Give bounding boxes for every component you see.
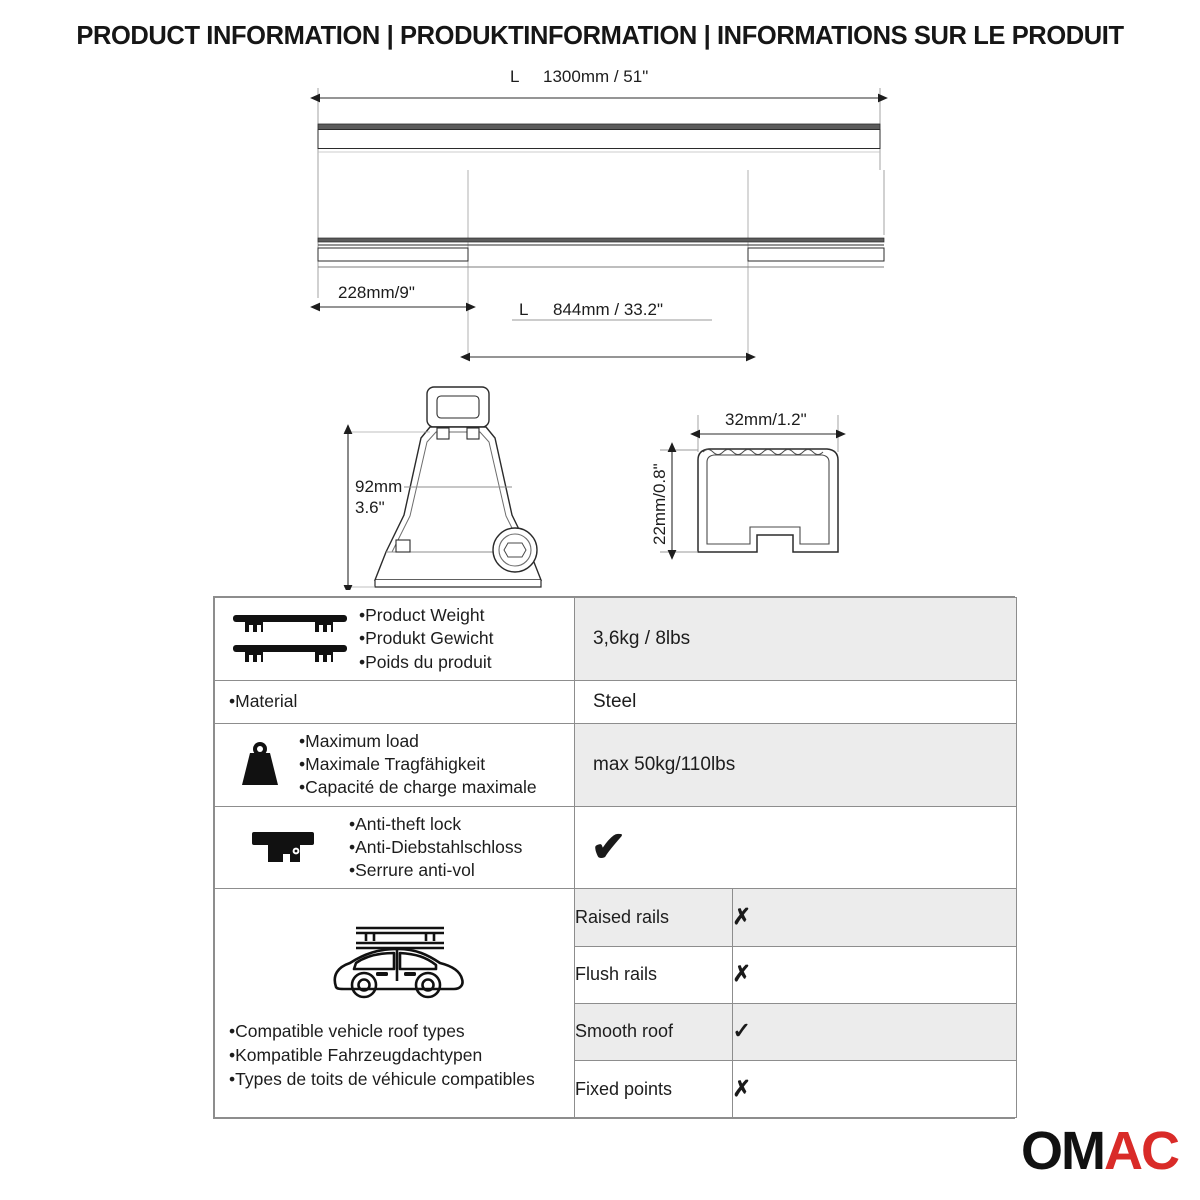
table-row: •Product Weight •Produkt Gewicht •Poids … xyxy=(215,598,1017,681)
spec-label-text: •Product Weight •Produkt Gewicht •Poids … xyxy=(359,604,494,674)
roof-type-row: Raised rails ✗ xyxy=(575,889,1016,946)
roof-type-mark: ✗ xyxy=(732,1060,1016,1117)
spec-value-cell: Steel xyxy=(575,680,1017,723)
spec-value-cell: max 50kg/110lbs xyxy=(575,723,1017,806)
label-line: •Maximale Tragfähigkeit xyxy=(299,753,537,776)
label-line: •Anti-Diebstahlschloss xyxy=(349,836,522,859)
compat-label-cell: •Compatible vehicle roof types •Kompatib… xyxy=(215,889,575,1118)
material-value: Steel xyxy=(575,681,1016,723)
logo-text-om: OM xyxy=(1021,1121,1104,1181)
spec-label-cell: •Material xyxy=(215,680,575,723)
cross-icon: ✗ xyxy=(733,1076,751,1101)
table-row: •Maximum load •Maximale Tragfähigkeit •C… xyxy=(215,723,1017,806)
crossbars-icon xyxy=(225,609,355,669)
spec-label-text: •Maximum load •Maximale Tragfähigkeit •C… xyxy=(299,730,537,800)
roof-type-name: Flush rails xyxy=(575,946,732,1003)
label-line: •Kompatible Fahrzeugdachtypen xyxy=(229,1044,535,1068)
spec-value-cell: ✔ xyxy=(575,806,1017,889)
label-line: •Types de toits de véhicule compatibles xyxy=(229,1068,535,1092)
label-line: •Produkt Gewicht xyxy=(359,627,494,650)
dim-end-offset: 228mm/9" xyxy=(338,283,415,302)
roof-type-row: Fixed points ✗ xyxy=(575,1060,1016,1117)
spec-label-cell: •Product Weight •Produkt Gewicht •Poids … xyxy=(215,598,575,681)
roof-type-mark: ✓ xyxy=(732,1003,1016,1060)
max-load-value: max 50kg/110lbs xyxy=(575,744,1016,786)
dim-span-prefix: L xyxy=(519,300,528,319)
label-line: •Compatible vehicle roof types xyxy=(229,1020,535,1044)
dim-profile-height: 22mm/0.8" xyxy=(650,463,669,545)
logo-text-ac: AC xyxy=(1104,1121,1178,1181)
page-title: PRODUCT INFORMATION | PRODUKTINFORMATION… xyxy=(0,22,1200,51)
dim-length-prefix: L xyxy=(510,67,519,86)
dim-span: 844mm / 33.2" xyxy=(553,300,663,319)
technical-drawing: L 1300mm / 51" 228mm/9" L 844mm / 33.2" xyxy=(0,60,1200,590)
table-row: •Anti-theft lock •Anti-Diebstahlschloss … xyxy=(215,806,1017,889)
label-line: •Poids du produit xyxy=(359,651,494,674)
product-weight-value: 3,6kg / 8lbs xyxy=(575,618,1016,660)
spec-value-cell: 3,6kg / 8lbs xyxy=(575,598,1017,681)
label-line: •Product Weight xyxy=(359,604,494,627)
car-with-rack-icon xyxy=(324,919,474,1010)
roof-type-mark: ✗ xyxy=(732,946,1016,1003)
table-row-compatibility: •Compatible vehicle roof types •Kompatib… xyxy=(215,889,1017,1118)
cross-icon: ✗ xyxy=(733,961,751,986)
roof-type-name: Fixed points xyxy=(575,1060,732,1117)
label-line: •Serrure anti-vol xyxy=(349,859,522,882)
roof-type-row: Flush rails ✗ xyxy=(575,946,1016,1003)
compat-matrix-cell: Raised rails ✗ Flush rails ✗ Smooth roof… xyxy=(575,889,1017,1118)
roof-type-table: Raised rails ✗ Flush rails ✗ Smooth roof… xyxy=(575,889,1016,1117)
page-header: PRODUCT INFORMATION | PRODUKTINFORMATION… xyxy=(0,22,1200,51)
dim-foot-height-in: 3.6" xyxy=(355,498,385,517)
label-line: •Anti-theft lock xyxy=(349,813,522,836)
dim-overall-length: 1300mm / 51" xyxy=(543,67,648,86)
spec-label-cell: •Maximum load •Maximale Tragfähigkeit •C… xyxy=(215,723,575,806)
lock-icon xyxy=(225,826,345,868)
table-row: •Material Steel xyxy=(215,680,1017,723)
roof-type-row: Smooth roof ✓ xyxy=(575,1003,1016,1060)
dim-profile-width: 32mm/1.2" xyxy=(725,410,807,429)
check-icon: ✓ xyxy=(733,1018,751,1043)
label-line: •Maximum load xyxy=(299,730,537,753)
roof-type-mark: ✗ xyxy=(732,889,1016,946)
product-information-page: PRODUCT INFORMATION | PRODUKTINFORMATION… xyxy=(0,0,1200,1200)
specification-table: •Product Weight •Produkt Gewicht •Poids … xyxy=(213,596,1015,1119)
label-line: •Capacité de charge maximale xyxy=(299,776,537,799)
compat-label-text: •Compatible vehicle roof types •Kompatib… xyxy=(229,1020,535,1091)
spec-label-cell: •Anti-theft lock •Anti-Diebstahlschloss … xyxy=(215,806,575,889)
roof-type-name: Smooth roof xyxy=(575,1003,732,1060)
dim-foot-height-mm: 92mm xyxy=(355,477,402,496)
spec-label-text: •Anti-theft lock •Anti-Diebstahlschloss … xyxy=(349,813,522,883)
cross-icon: ✗ xyxy=(733,904,751,929)
weight-icon xyxy=(225,739,295,791)
anti-theft-check-icon: ✔ xyxy=(575,826,1016,868)
spec-label-text: •Material xyxy=(229,690,297,713)
omac-logo: OMAC xyxy=(1021,1124,1178,1178)
roof-type-name: Raised rails xyxy=(575,889,732,946)
label-line: •Material xyxy=(229,690,297,713)
